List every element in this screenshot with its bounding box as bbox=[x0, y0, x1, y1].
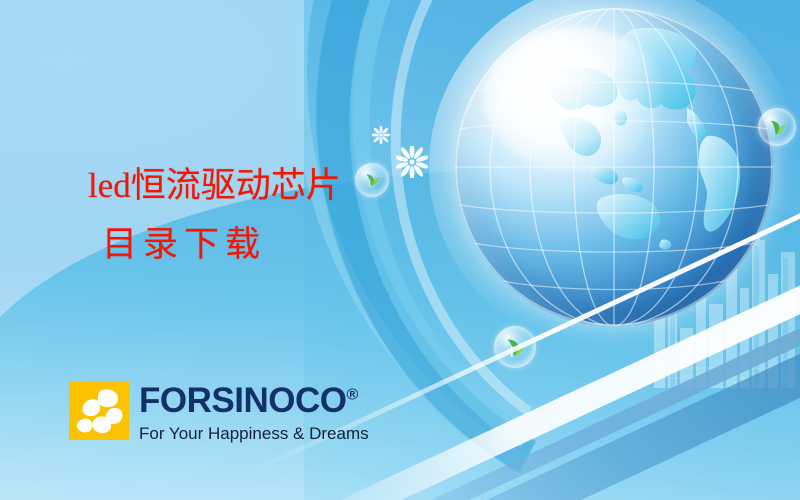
sparkle-flower-icon bbox=[396, 146, 428, 183]
logo-company-name: FORSINOCO® bbox=[139, 383, 369, 418]
headline: led恒流驱动芯片 目录下载 bbox=[88, 168, 341, 262]
four-petal-flower-icon bbox=[69, 381, 129, 440]
leaf-icon bbox=[361, 169, 382, 190]
company-logo[interactable]: FORSINOCO® For Your Happiness & Dreams bbox=[69, 381, 369, 442]
bubble-icon bbox=[758, 108, 796, 146]
bubble-icon bbox=[355, 163, 389, 197]
logo-name-text: FORSINOCO bbox=[139, 381, 346, 420]
sparkle-flower-icon bbox=[372, 126, 390, 149]
logo-text-block: FORSINOCO® For Your Happiness & Dreams bbox=[139, 381, 369, 442]
headline-line-2: 目录下载 bbox=[102, 227, 341, 262]
globe-sphere bbox=[455, 8, 773, 326]
globe-icon bbox=[455, 8, 773, 326]
globe-rim bbox=[455, 8, 773, 326]
headline-line-1: led恒流驱动芯片 bbox=[88, 168, 341, 203]
promo-banner: led恒流驱动芯片 目录下载 FORSINOCO® For Your Happi… bbox=[0, 0, 800, 500]
leaf-icon bbox=[765, 115, 789, 139]
logo-tagline: For Your Happiness & Dreams bbox=[139, 425, 369, 442]
registered-trademark-icon: ® bbox=[346, 386, 357, 403]
